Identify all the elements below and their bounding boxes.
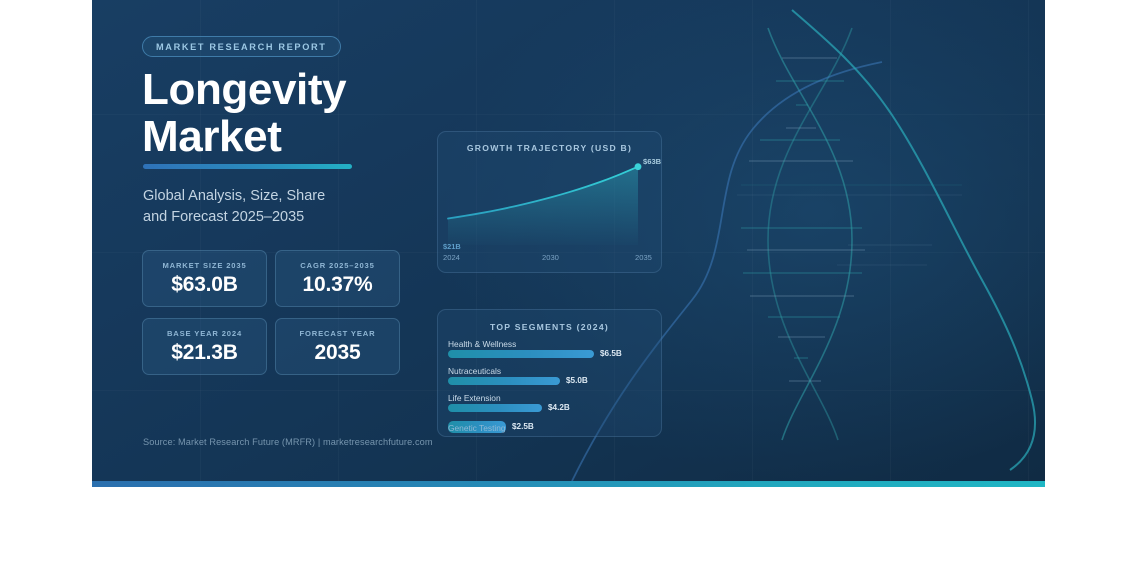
report-badge-label: MARKET RESEARCH REPORT — [156, 42, 327, 52]
segment-label: Nutraceuticals — [448, 366, 501, 376]
growth-start-value-label: $21B — [443, 242, 461, 251]
title-underline-accent — [143, 164, 352, 169]
segment-bar — [448, 377, 560, 385]
growth-x-axis-ticks: 2024 2030 2035 — [443, 253, 658, 263]
stat-card-market-size: MARKET SIZE 2035 $63.0B — [142, 250, 267, 307]
source-attribution: Source: Market Research Future (MRFR) | … — [143, 437, 433, 447]
page-subtitle-line-1: Global Analysis, Size, Share — [143, 186, 443, 207]
bottom-accent-bar — [92, 481, 1045, 487]
segment-row-nutraceuticals: Nutraceuticals $5.0B — [448, 366, 653, 393]
stat-card-base-year: BASE YEAR 2024 $21.3B — [142, 318, 267, 375]
x-tick-label: 2024 — [443, 253, 460, 262]
poster-root: MARKET RESEARCH REPORT Longevity Market … — [0, 0, 1140, 570]
report-canvas: MARKET RESEARCH REPORT Longevity Market … — [92, 0, 1045, 481]
segment-bar-list: Health & Wellness $6.5B Nutraceuticals $… — [448, 339, 653, 434]
stat-card-cagr: CAGR 2025–2035 10.37% — [275, 250, 400, 307]
stat-card-label: FORECAST YEAR — [300, 329, 376, 338]
page-title-line-2: Market — [142, 113, 472, 160]
stat-card-value: 2035 — [315, 341, 361, 365]
segment-value: $5.0B — [566, 376, 588, 385]
growth-chart: $63B $21B 2024 2030 2035 — [438, 132, 663, 274]
report-badge: MARKET RESEARCH REPORT — [142, 36, 341, 57]
segment-row-life-extension: Life Extension $4.2B — [448, 393, 653, 420]
stat-card-label: CAGR 2025–2035 — [300, 261, 374, 270]
stat-card-value: 10.37% — [302, 273, 372, 297]
segment-row-genetic-testing: Genetic Testing $2.5B — [448, 420, 653, 434]
stat-card-label: BASE YEAR 2024 — [167, 329, 242, 338]
segment-bar — [448, 350, 594, 358]
page-title: Longevity Market — [142, 66, 472, 160]
stat-card-grid: MARKET SIZE 2035 $63.0B CAGR 2025–2035 1… — [142, 250, 452, 375]
stat-card-value: $21.3B — [171, 341, 238, 365]
segment-row-health-wellness: Health & Wellness $6.5B — [448, 339, 653, 366]
x-tick-label: 2035 — [635, 253, 652, 262]
segment-label: Health & Wellness — [448, 339, 516, 349]
segment-label: Life Extension — [448, 393, 501, 403]
left-content-column: MARKET RESEARCH REPORT Longevity Market … — [142, 0, 472, 481]
stat-card-forecast-year: FORECAST YEAR 2035 — [275, 318, 400, 375]
growth-end-value-label: $63B — [643, 157, 661, 166]
page-subtitle-line-2: and Forecast 2025–2035 — [143, 207, 443, 228]
page-subtitle: Global Analysis, Size, Share and Forecas… — [143, 186, 443, 227]
segment-value: $6.5B — [600, 349, 622, 358]
stat-card-label: MARKET SIZE 2035 — [162, 261, 246, 270]
x-tick-label: 2030 — [542, 253, 559, 262]
stat-card-value: $63.0B — [171, 273, 238, 297]
page-title-line-1: Longevity — [142, 66, 472, 113]
growth-end-point-marker — [635, 163, 642, 170]
segments-panel-title: TOP SEGMENTS (2024) — [438, 322, 661, 332]
segment-value: $2.5B — [512, 422, 534, 431]
top-segments-panel: TOP SEGMENTS (2024) Health & Wellness $6… — [437, 309, 662, 437]
segment-label: Genetic Testing — [448, 423, 506, 433]
growth-trajectory-panel: GROWTH TRAJECTORY (USD B) — [437, 131, 662, 273]
segment-bar — [448, 404, 542, 412]
segment-value: $4.2B — [548, 403, 570, 412]
